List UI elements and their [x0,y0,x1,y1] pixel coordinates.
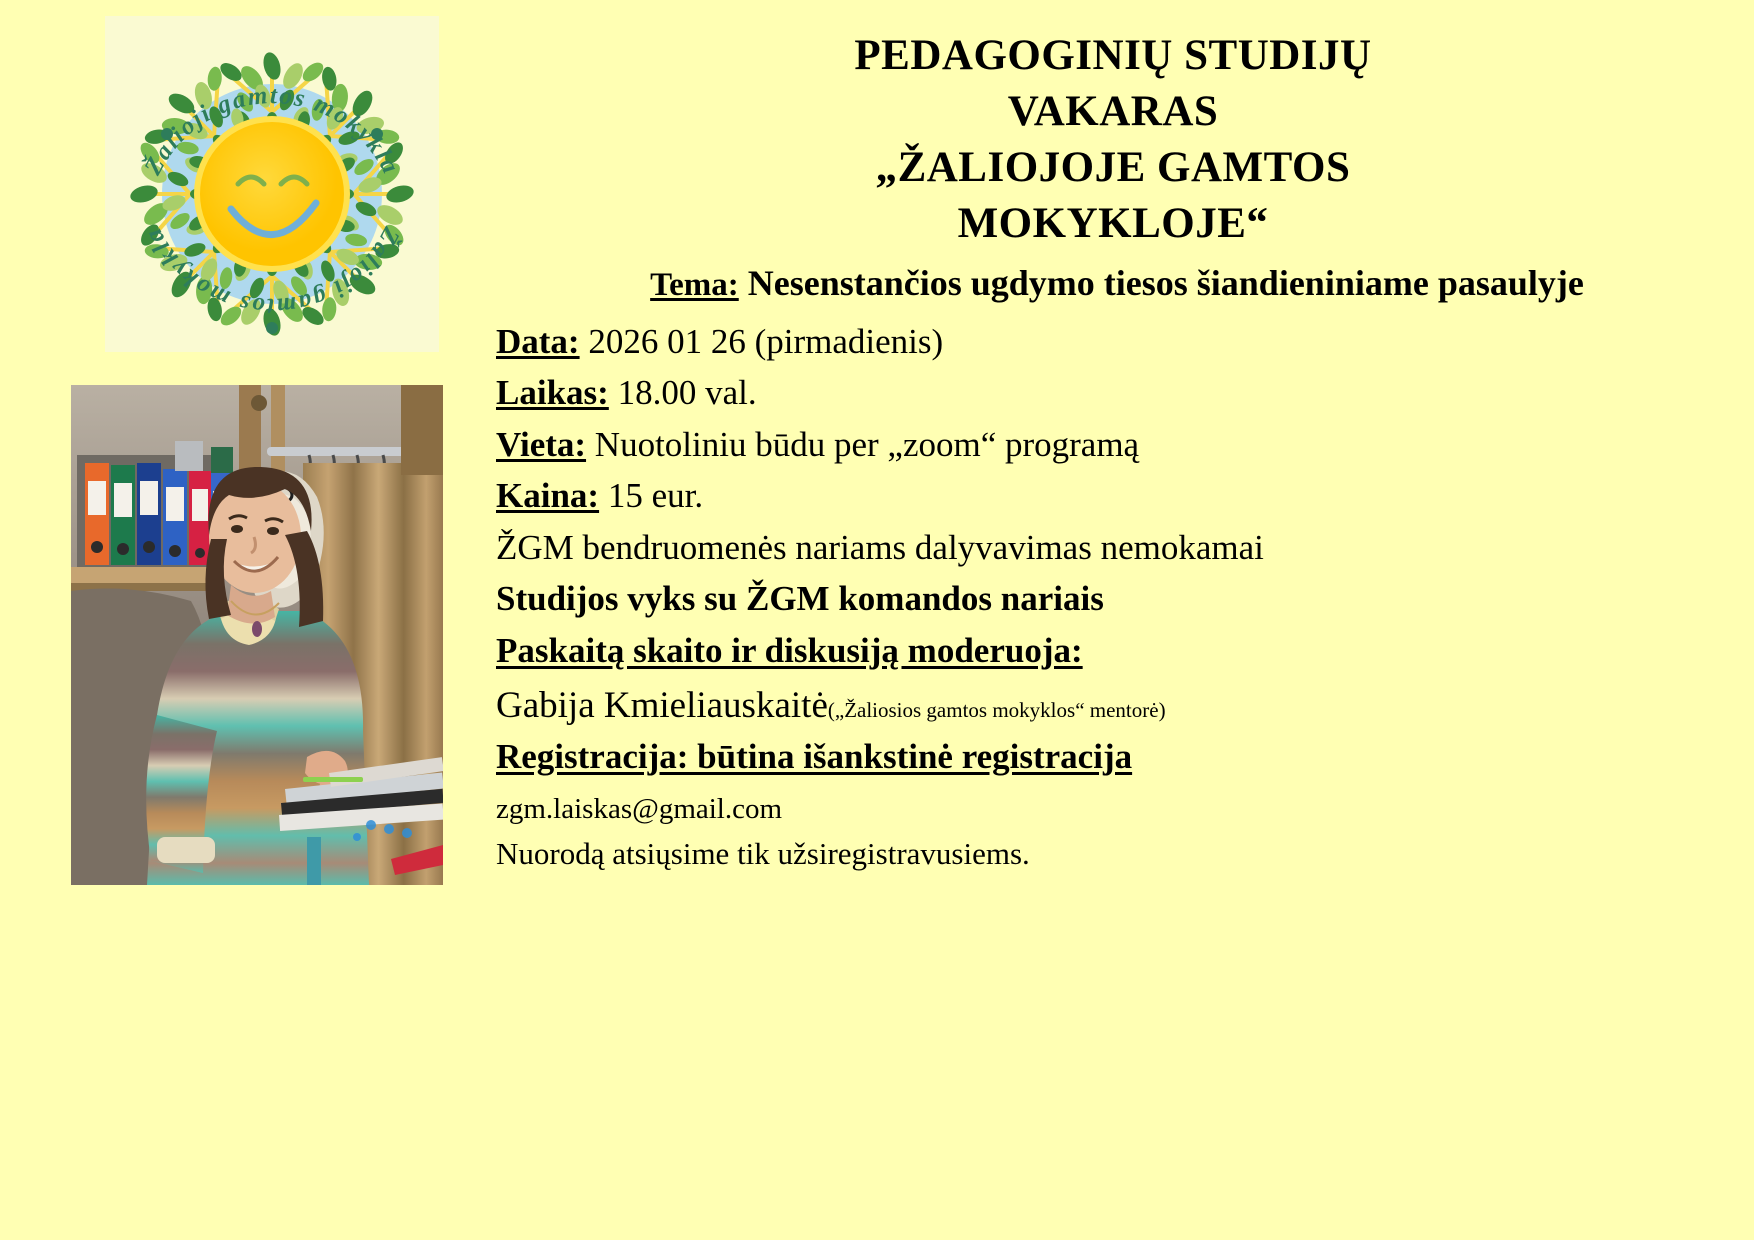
left-column: Žalioji gamtos mokykla Žalioji gamtos mo… [0,0,480,1240]
place-value: Nuotoliniu būdu per „zoom“ programą [595,425,1139,464]
page-title: PEDAGOGINIŲ STUDIJŲ VAKARAS „ŽALIOJOJE G… [488,0,1738,252]
link-note: Nuorodą atsiųsime tik užsiregistravusiem… [496,835,1738,874]
title-line-2: VAKARAS [638,84,1588,140]
mentor-photo [71,385,443,885]
registration-label: Registracija: būtina išankstinė registra… [496,734,1132,780]
place-label: Vieta: [496,425,586,464]
detail-topic: Tema: Nesenstančios ugdymo tiesos šiandi… [496,258,1738,309]
price-value: 15 eur. [608,476,703,515]
title-line-4: MOKYKLOJE“ [638,196,1588,252]
topic-value: Nesenstančios ugdymo tiesos šiandieninia… [748,263,1584,303]
topic-label: Tema: [650,267,739,303]
detail-place: Vieta: Nuotoliniu būdu per „zoom“ progra… [496,422,1738,468]
moderator-role: („Žaliosios gamtos mokyklos“ mentorė) [828,698,1166,722]
logo-dot-right [371,128,383,140]
time-label: Laikas: [496,373,609,412]
event-details: Tema: Nesenstančios ugdymo tiesos šiandi… [488,252,1738,875]
title-line-1: PEDAGOGINIŲ STUDIJŲ [638,28,1588,84]
detail-price: Kaina: 15 eur. [496,473,1738,519]
moderator-line: Gabija Kmieliauskaitė(„Žaliosios gamtos … [496,685,1738,728]
moderator-label-wrap: Paskaitą skaito ir diskusiją moderuoja: [496,628,1738,680]
time-value: 18.00 val. [618,373,757,412]
right-column: PEDAGOGINIŲ STUDIJŲ VAKARAS „ŽALIOJOJE G… [488,0,1738,1240]
logo-dot-bottom [266,322,278,334]
free-participation-note: ŽGM bendruomenės nariams dalyvavimas nem… [496,525,1738,571]
detail-date: Data: 2026 01 26 (pirmadienis) [496,319,1738,365]
registration-label-wrap: Registracija: būtina išankstinė registra… [496,734,1738,786]
zalioji-gamtos-mokykla-logo-icon: Žalioji gamtos mokykla Žalioji gamtos mo… [105,16,439,352]
mentor-photo-image [71,385,443,885]
moderator-name: Gabija Kmieliauskaitė [496,685,828,726]
team-note: Studijos vyks su ŽGM komandos nariais [496,576,1738,622]
logo-container: Žalioji gamtos mokykla Žalioji gamtos mo… [105,16,439,352]
registration-email[interactable]: zgm.laiskas@gmail.com [496,791,1738,827]
logo-dot-left [161,128,173,140]
moderator-label: Paskaitą skaito ir diskusiją moderuoja: [496,628,1083,674]
date-value: 2026 01 26 (pirmadienis) [588,322,943,361]
date-label: Data: [496,322,580,361]
title-line-3: „ŽALIOJOJE GAMTOS [638,140,1588,196]
price-label: Kaina: [496,476,599,515]
detail-time: Laikas: 18.00 val. [496,370,1738,416]
